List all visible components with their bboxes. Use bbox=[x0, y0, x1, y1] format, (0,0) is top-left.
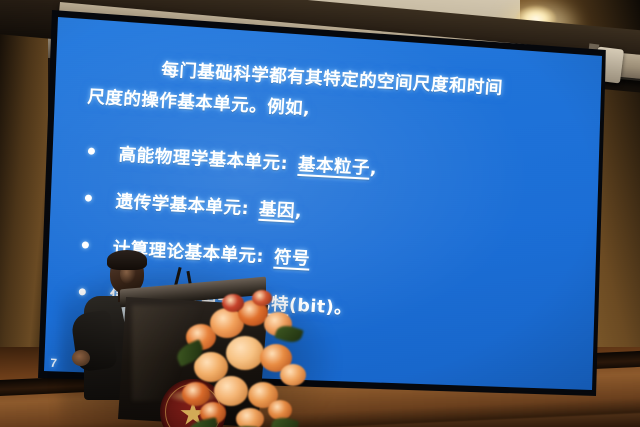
bullet-dot-icon bbox=[82, 241, 89, 248]
bullet-dot-icon bbox=[88, 147, 95, 154]
flower-bloom bbox=[222, 294, 244, 312]
presenter-hair bbox=[107, 250, 147, 270]
flower-bloom bbox=[226, 336, 264, 370]
bullet-dot-icon bbox=[85, 194, 92, 201]
slide-page-number: 7 bbox=[50, 356, 58, 370]
list-item: 高能物理学基本单元: 基本粒子 , bbox=[87, 140, 608, 193]
slide-lead-paragraph: 每门基础科学都有其特定的空间尺度和时间 尺度的操作基本单元。例如, bbox=[86, 51, 599, 140]
bullet-prefix: 高能物理学基本单元: bbox=[118, 141, 289, 175]
list-item: 遗传学基本单元: 基因 , bbox=[84, 186, 605, 239]
bullet-prefix: 遗传学基本单元: bbox=[115, 188, 250, 220]
lecture-hall-photo: 每门基础科学都有其特定的空间尺度和时间 尺度的操作基本单元。例如, 高能物理学基… bbox=[0, 0, 640, 427]
flower-bloom bbox=[236, 408, 264, 427]
bullet-term: 符号 bbox=[273, 244, 311, 271]
bullet-term: 基本粒子 bbox=[297, 151, 371, 180]
flower-bloom bbox=[252, 290, 272, 306]
flower-bloom bbox=[280, 364, 306, 386]
floral-arrangement bbox=[176, 290, 312, 427]
bullet-term: 基因 bbox=[258, 196, 296, 223]
bullet-suffix: , bbox=[369, 159, 377, 179]
bullet-suffix: , bbox=[294, 202, 302, 222]
flower-bloom bbox=[214, 376, 248, 406]
presenter-hand bbox=[72, 350, 90, 366]
